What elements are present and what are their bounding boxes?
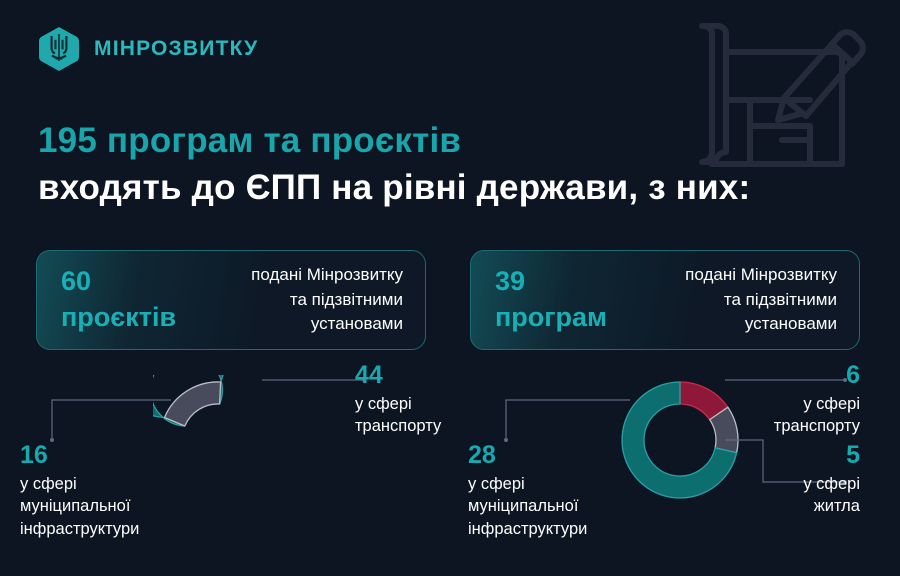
page-title: 195 програм та проєктів входять до ЄПП н… (38, 118, 868, 211)
callout-text-line: транспорту (355, 415, 441, 437)
callout-text: у сфері транспорту (355, 393, 441, 438)
summary-desc-line: та підзвітними (685, 288, 837, 313)
callout-left-municipal: 16 у сфері муніципальної інфраструктури (20, 440, 139, 540)
summary-desc-line: подані Мінрозвитку (251, 263, 403, 288)
callout-text: у сфері житла (700, 473, 860, 518)
summary-card-description: подані Мінрозвитку та підзвітними устано… (251, 263, 403, 337)
callout-text-line: інфраструктури (20, 518, 139, 540)
callout-value: 5 (700, 440, 860, 470)
callout-text-line: муніципальної (468, 495, 587, 517)
callout-value: 6 (700, 360, 860, 390)
donut-slice-municipal (165, 382, 221, 426)
callout-right-housing: 5 у сфері житла (700, 440, 860, 518)
donut-chart-projects (153, 375, 283, 505)
callout-right-transport: 6 у сфері транспорту (700, 360, 860, 438)
callout-value: 44 (355, 360, 441, 390)
brand-name: МІНРОЗВИТКУ (94, 37, 258, 61)
callout-text-line: житла (700, 495, 860, 517)
callout-value: 28 (468, 440, 587, 470)
callout-text: у сфері транспорту (700, 393, 860, 438)
summary-count-unit: програм (495, 300, 607, 336)
callout-text-line: у сфері (355, 393, 441, 415)
summary-desc-line: подані Мінрозвитку (685, 263, 837, 288)
callout-text-line: транспорту (700, 415, 860, 437)
callout-text-line: у сфері (700, 393, 860, 415)
leader-line-28 (500, 396, 630, 446)
headline-line-1: 195 програм та проєктів (38, 118, 868, 165)
summary-card-count: 39 програм (495, 264, 607, 336)
headline-line-2: входять до ЄПП на рівні держави, з них: (38, 165, 868, 212)
summary-count-value: 39 (495, 264, 607, 300)
summary-count-unit: проєктів (61, 300, 176, 336)
summary-count-value: 60 (61, 264, 176, 300)
summary-card-programs: 39 програм подані Мінрозвитку та підзвіт… (470, 250, 860, 350)
summary-card-projects: 60 проєктів подані Мінрозвитку та підзві… (36, 250, 426, 350)
callout-text: у сфері муніципальної інфраструктури (20, 473, 139, 540)
summary-card-count: 60 проєктів (61, 264, 176, 336)
callout-text: у сфері муніципальної інфраструктури (468, 473, 587, 540)
callout-text-line: інфраструктури (468, 518, 587, 540)
callout-text-line: у сфері (700, 473, 860, 495)
callout-text-line: муніципальної (20, 495, 139, 517)
infographic-canvas: МІНРОЗВИТКУ 195 програм та проєктів вход… (0, 0, 900, 576)
callout-text-line: у сфері (468, 473, 587, 495)
leader-line-16 (46, 396, 171, 446)
summary-card-description: подані Мінрозвитку та підзвітними устано… (685, 263, 837, 337)
summary-desc-line: та підзвітними (251, 288, 403, 313)
summary-desc-line: установами (251, 312, 403, 337)
brand: МІНРОЗВИТКУ (38, 26, 258, 72)
callout-left-transport: 44 у сфері транспорту (355, 360, 441, 438)
callout-text-line: у сфері (20, 473, 139, 495)
callout-right-municipal: 28 у сфері муніципальної інфраструктури (468, 440, 587, 540)
ukraine-trident-hexagon-icon (38, 26, 80, 72)
summary-desc-line: установами (685, 312, 837, 337)
callout-value: 16 (20, 440, 139, 470)
